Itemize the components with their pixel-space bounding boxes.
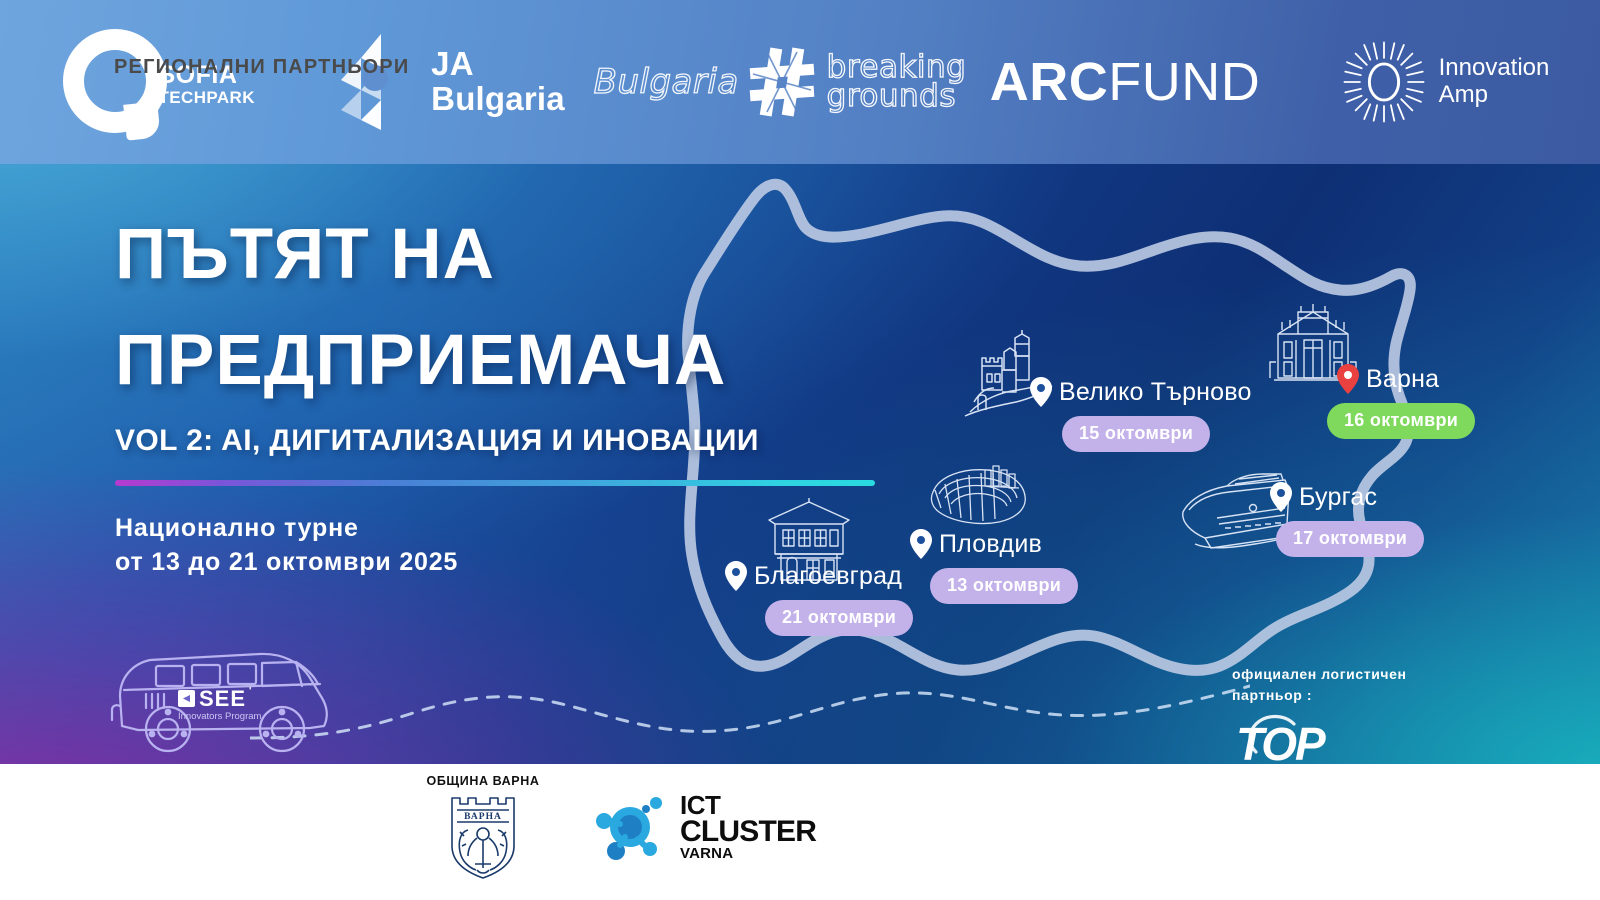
event-poster: SOFIA TECHPARK JA xyxy=(0,0,1600,900)
logo-innovation-amp: Innovation Amp xyxy=(1290,0,1600,164)
crest-text: ВАРНА xyxy=(464,812,502,822)
logo-arc-fund: ARCFUND xyxy=(960,0,1290,164)
logo-ict-cluster-varna: ICT CLUSTER VARNA xyxy=(594,793,816,861)
city-blagoevgrad[interactable]: Благоевград 21 октомври xyxy=(725,561,913,636)
logo-bulgaria-breaking-grounds: Bulgaria breaking xyxy=(600,0,960,164)
dotted-road-path xyxy=(250,634,1250,764)
logo-ja-bulgaria: JA Bulgaria xyxy=(300,0,600,164)
bbg-word-bulgaria: Bulgaria xyxy=(594,62,739,102)
logo-obshtina-varna: ОБЩИНА ВАРНА ВАРНА xyxy=(424,774,542,885)
svg-text:SEE: SEE xyxy=(199,686,246,711)
map-pin-icon xyxy=(1337,364,1359,394)
varna-coat-of-arms-icon: ВАРНА xyxy=(444,794,522,880)
ict-line2: CLUSTER xyxy=(680,818,816,847)
svg-text:Innovators Program: Innovators Program xyxy=(178,711,262,722)
roman-theatre-icon xyxy=(925,462,1030,532)
map-pin-icon xyxy=(1030,377,1052,407)
logo-top-rent-a-car: TOP RENT-A-CAR xyxy=(1232,710,1417,764)
page-title-line1: ПЪТЯТ НА xyxy=(115,219,905,290)
page-title-line2: ПРЕДПРИЕМАЧА xyxy=(115,325,905,396)
see-innovators-bus-icon: SEE ' Innovators Program xyxy=(110,634,355,759)
city-name: Велико Търново xyxy=(1059,378,1252,407)
city-name: Варна xyxy=(1366,365,1439,394)
date-badge: 15 октомври xyxy=(1062,416,1210,452)
date-badge: 16 октомври xyxy=(1327,403,1475,439)
city-name: Бургас xyxy=(1299,483,1377,512)
sunburst-icon xyxy=(1341,39,1427,125)
city-varna[interactable]: Варна 16 октомври xyxy=(1337,364,1475,439)
ict-cluster-mark-icon xyxy=(594,793,668,861)
date-badge: 21 октомври xyxy=(765,600,913,636)
logistics-label-line2: партньор : xyxy=(1232,685,1432,706)
regional-partners-label: РЕГИОНАЛНИ ПАРТНЬОРИ xyxy=(114,56,409,79)
city-name: Пловдив xyxy=(939,530,1042,559)
arc-fund-bold: ARC xyxy=(990,52,1109,112)
arc-fund-thin: FUND xyxy=(1108,52,1260,112)
sofia-techpark-tail-icon xyxy=(123,101,161,140)
ja-bulgaria-line2: Bulgaria xyxy=(431,82,565,117)
city-burgas[interactable]: Бургас 17 октомври xyxy=(1270,482,1424,557)
city-plovdiv[interactable]: Пловдив 13 октомври xyxy=(910,529,1078,604)
map-pin-icon xyxy=(1270,482,1292,512)
logo-sofia-tech-park: SOFIA TECHPARK xyxy=(0,0,300,164)
hash-icon xyxy=(747,44,817,120)
sofia-techpark-line2: TECHPARK xyxy=(159,89,255,106)
logistics-partner-block: официален логистичен партньор : TOP RENT… xyxy=(1232,664,1432,764)
hero-section: ПЪТЯТ НА ПРЕДПРИЕМАЧА VOL 2: AI, ДИГИТАЛ… xyxy=(0,164,1600,764)
ja-bulgaria-mark-icon xyxy=(335,34,415,130)
city-name: Благоевград xyxy=(754,562,902,591)
bbg-line2: grounds xyxy=(827,82,967,111)
map-pin-icon xyxy=(725,561,747,591)
svg-text:TOP: TOP xyxy=(1236,718,1326,764)
innovation-amp-line1: Innovation xyxy=(1439,55,1550,82)
obshtina-varna-title: ОБЩИНА ВАРНА xyxy=(424,774,542,788)
logistics-label-line1: официален логистичен xyxy=(1232,664,1432,685)
map-pin-icon xyxy=(910,529,932,559)
top-partner-bar: SOFIA TECHPARK JA xyxy=(0,0,1600,164)
accent-divider xyxy=(115,480,875,486)
city-veliko-tarnovo[interactable]: Велико Търново 15 октомври xyxy=(1030,377,1252,452)
page-subtitle: VOL 2: AI, ДИГИТАЛИЗАЦИЯ И ИНОВАЦИИ xyxy=(115,424,905,458)
ict-line3: VARNA xyxy=(680,847,816,861)
date-badge: 13 октомври xyxy=(930,568,1078,604)
date-badge: 17 октомври xyxy=(1276,521,1424,557)
ja-bulgaria-line1: JA xyxy=(431,47,565,82)
innovation-amp-line2: Amp xyxy=(1439,82,1550,109)
svg-text:': ' xyxy=(249,686,251,697)
